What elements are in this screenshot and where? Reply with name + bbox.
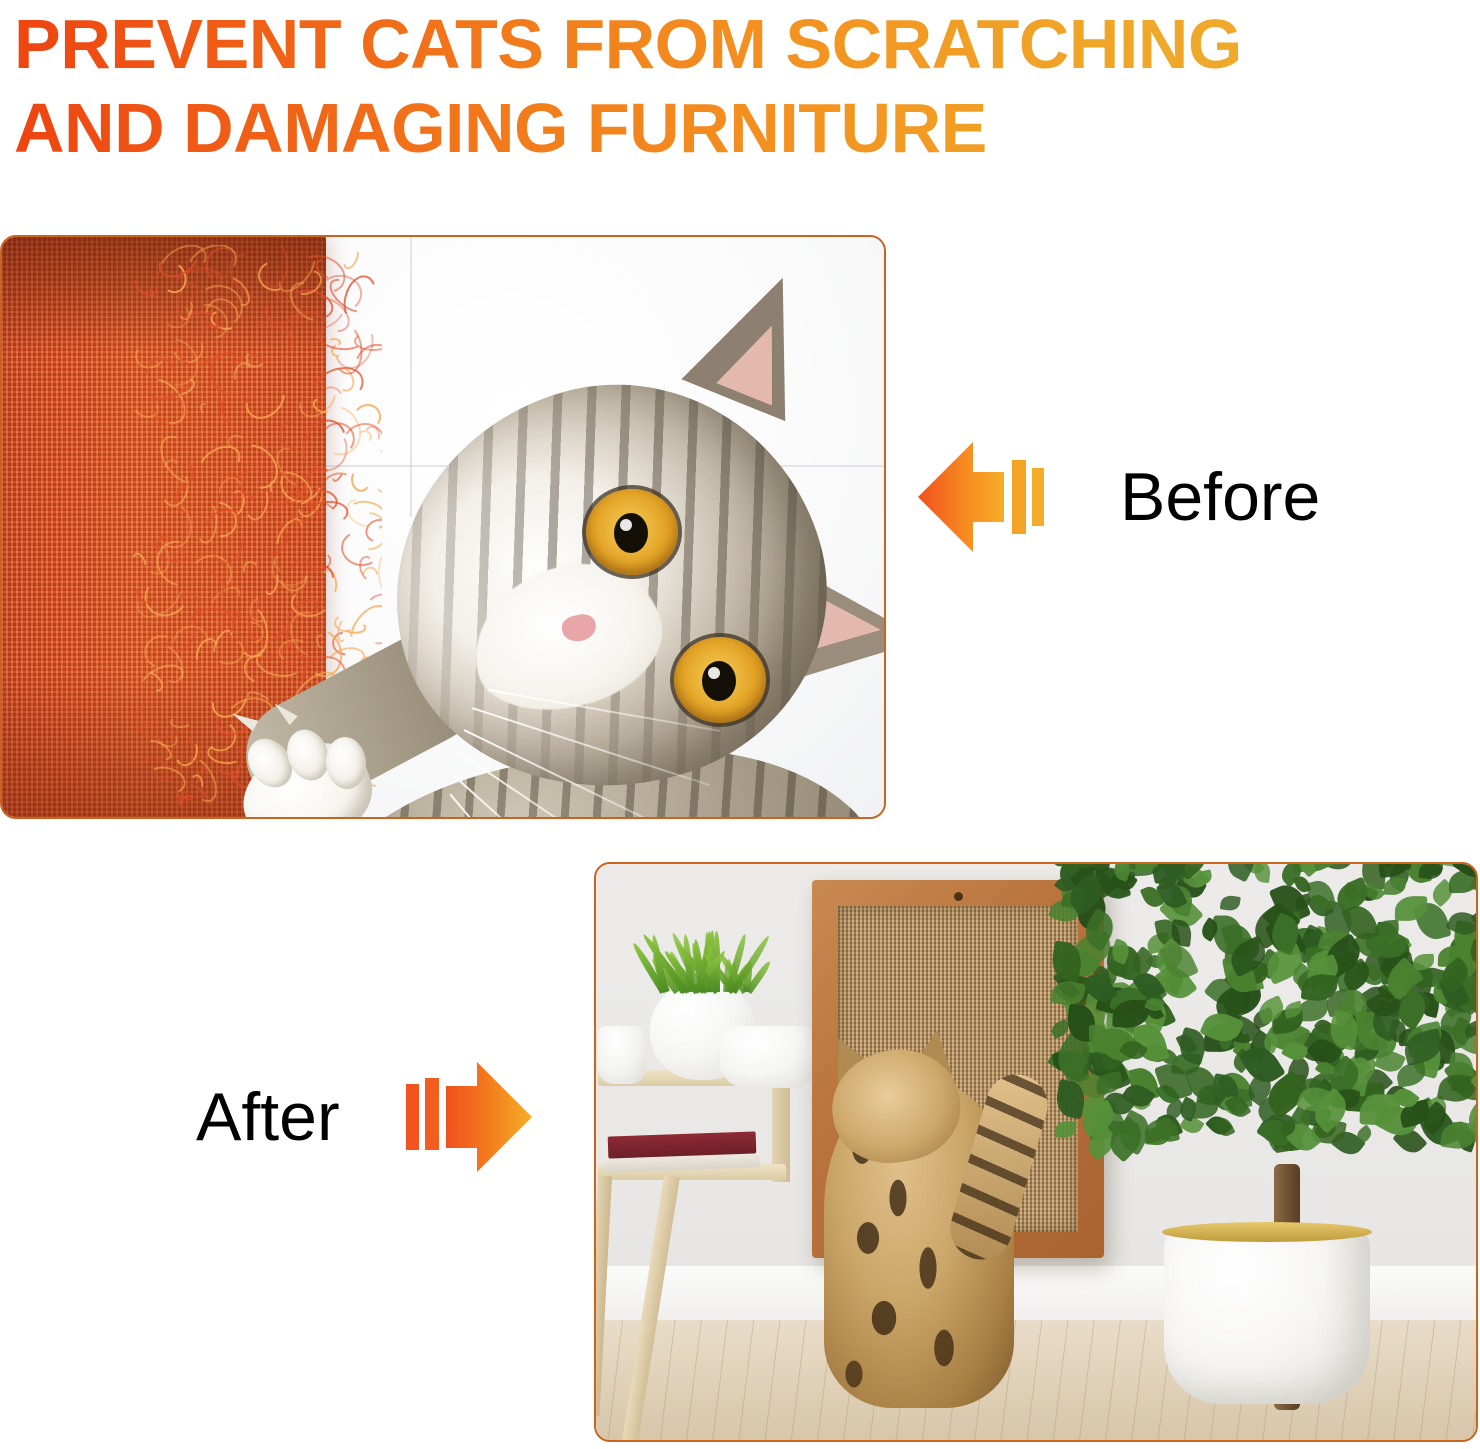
page-headline: PREVENT CATS FROM SCRATCHING AND DAMAGIN… (14, 2, 1466, 170)
green-grass-plant (654, 920, 754, 992)
before-cat-eye-glint (708, 667, 720, 679)
after-scene (596, 864, 1476, 1440)
before-label: Before (1120, 463, 1320, 531)
before-cat-eye-glint (620, 519, 632, 531)
before-label-group: Before (918, 438, 1320, 556)
headline-line-1: PREVENT CATS FROM SCRATCHING (14, 2, 1466, 86)
mounting-screw (954, 892, 963, 901)
after-photo (594, 862, 1478, 1442)
before-photo (0, 235, 886, 819)
after-label-group: After (196, 1058, 532, 1176)
headline-line-2: AND DAMAGING FURNITURE (14, 86, 1466, 170)
ficus-white-pot (1164, 1228, 1370, 1404)
before-cat-pupil (702, 661, 736, 701)
wall-seam-vertical (410, 237, 412, 517)
ficus-canopy (1046, 864, 1476, 1274)
white-ceramic-cup (598, 1026, 646, 1084)
after-arrow-icon (402, 1058, 532, 1176)
before-cat-pupil (614, 513, 648, 553)
white-ceramic-bowl (720, 1026, 818, 1088)
ficus-pot-gold-rim (1162, 1222, 1372, 1242)
before-scene (2, 237, 884, 817)
before-arrow-icon (918, 438, 1048, 556)
after-label: After (196, 1083, 340, 1151)
